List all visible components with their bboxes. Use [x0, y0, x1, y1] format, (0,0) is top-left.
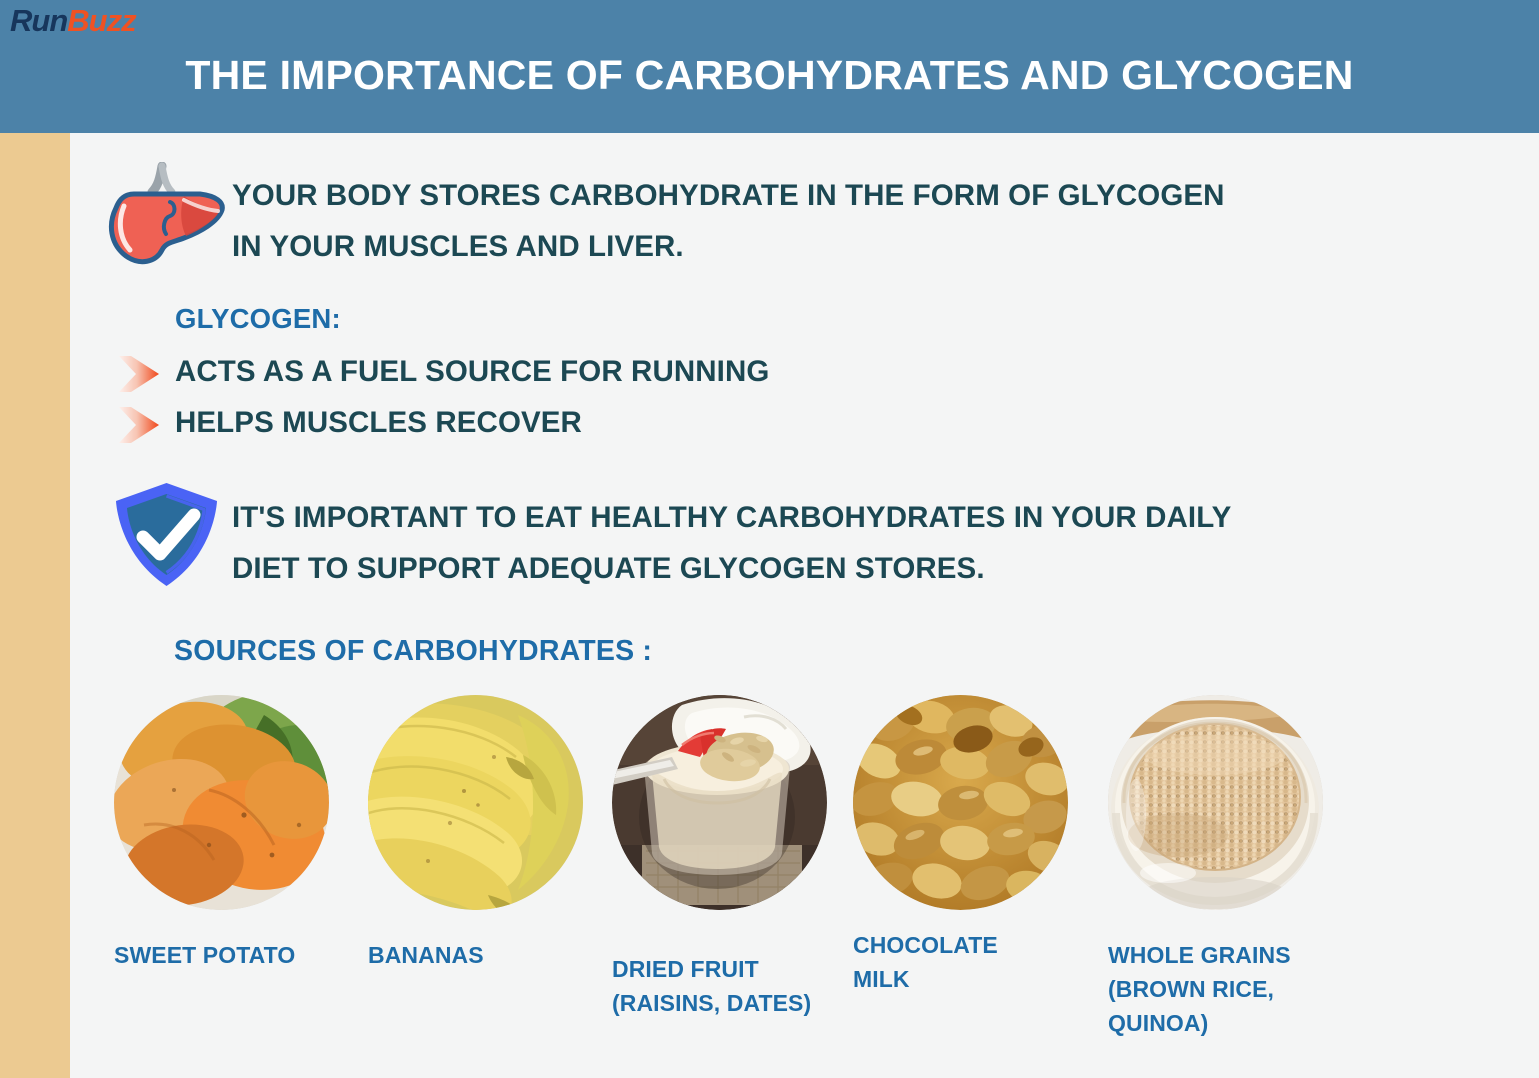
shield-check-icon — [110, 480, 223, 590]
statement-2-line-2: DIET TO SUPPORT ADEQUATE GLYCOGEN STORES… — [232, 543, 1482, 594]
statement-1-line-2: IN YOUR MUSCLES AND LIVER. — [232, 221, 1472, 272]
sources-list: SWEET POTATO — [100, 695, 1420, 1065]
chevron-right-icon — [118, 355, 160, 393]
source-caption-line-2: MILK — [853, 962, 1099, 996]
list-item-label: ACTS AS A FUEL SOURCE FOR RUNNING — [175, 352, 769, 392]
source-caption: DRIED FRUIT (RAISINS, DATES) — [612, 952, 858, 1020]
source-item-whole-grains: WHOLE GRAINS (BROWN RICE, QUINOA) — [1108, 695, 1354, 1040]
source-item-dried-fruit: DRIED FRUIT (RAISINS, DATES) — [612, 695, 858, 1020]
statement-1: YOUR BODY STORES CARBOHYDRATE IN THE FOR… — [232, 170, 1472, 272]
source-caption: BANANAS — [368, 938, 614, 972]
runbuzz-logo[interactable]: RunBuzz — [10, 4, 136, 38]
left-accent-rail — [0, 133, 70, 1078]
statement-2-line-1: IT'S IMPORTANT TO EAT HEALTHY CARBOHYDRA… — [232, 492, 1482, 543]
logo-text-run: Run — [10, 3, 67, 38]
source-caption-line-1: DRIED FRUIT — [612, 952, 858, 986]
header-banner: RunBuzz THE IMPORTANCE OF CARBOHYDRATES … — [0, 0, 1539, 133]
sources-heading: SOURCES OF CARBOHYDRATES : — [174, 635, 652, 668]
chocolate-milk-raisins-photo — [853, 695, 1068, 910]
logo-text-buzz: Buzz — [67, 3, 135, 38]
list-item-label: HELPS MUSCLES RECOVER — [175, 403, 582, 443]
source-caption-line-1: SWEET POTATO — [114, 938, 360, 972]
source-caption-line-2: (RAISINS, DATES) — [612, 986, 858, 1020]
yogurt-dried-fruit-photo — [612, 695, 827, 910]
sweet-potato-photo — [114, 695, 329, 910]
source-caption-line-1: WHOLE GRAINS — [1108, 938, 1354, 972]
source-item-bananas: BANANAS — [368, 695, 614, 972]
statement-1-line-1: YOUR BODY STORES CARBOHYDRATE IN THE FOR… — [232, 170, 1472, 221]
glycogen-heading: GLYCOGEN: — [175, 303, 341, 335]
source-caption: SWEET POTATO — [114, 938, 360, 972]
source-caption: CHOCOLATE MILK — [853, 928, 1099, 996]
whole-grains-photo — [1108, 695, 1323, 910]
source-caption-line-1: BANANAS — [368, 938, 614, 972]
source-caption-line-3: QUINOA) — [1108, 1006, 1354, 1040]
page-title: THE IMPORTANCE OF CARBOHYDRATES AND GLYC… — [0, 52, 1539, 99]
source-item-chocolate-milk: CHOCOLATE MILK — [853, 695, 1099, 996]
liver-icon — [100, 162, 228, 270]
source-caption-line-1: CHOCOLATE — [853, 928, 1099, 962]
source-caption-line-2: (BROWN RICE, — [1108, 972, 1354, 1006]
source-caption: WHOLE GRAINS (BROWN RICE, QUINOA) — [1108, 938, 1354, 1040]
statement-2: IT'S IMPORTANT TO EAT HEALTHY CARBOHYDRA… — [232, 492, 1482, 594]
source-item-sweet-potato: SWEET POTATO — [114, 695, 360, 972]
chevron-right-icon — [118, 406, 160, 444]
bananas-photo — [368, 695, 583, 910]
infographic-poster: RunBuzz THE IMPORTANCE OF CARBOHYDRATES … — [0, 0, 1539, 1078]
